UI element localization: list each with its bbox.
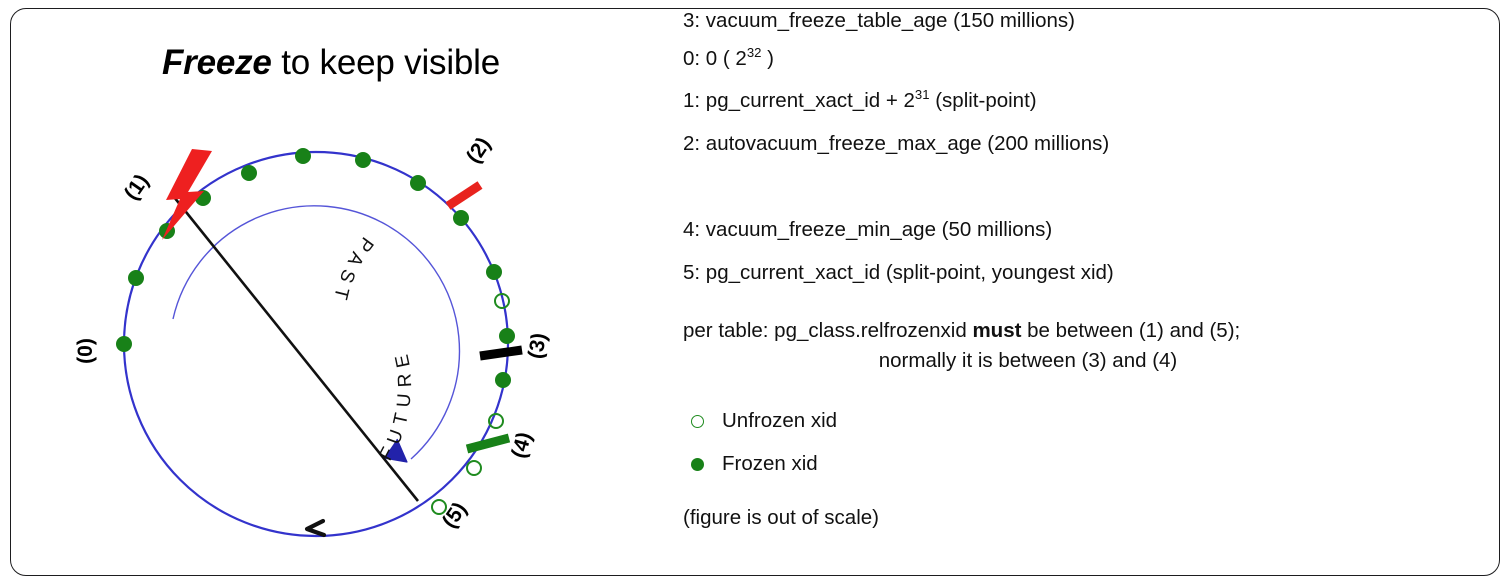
legend-line-0-text: ) [761,47,774,70]
ring-label-0: (0) [74,338,97,364]
per-table-note: per table: pg_class.relfrozenxid must be… [683,316,1413,376]
legend-line-4-text: 4: vacuum_freeze_min_age (50 millions) [683,218,1052,241]
ring-label-1-text: (1) [120,170,154,204]
legend-line-0-exponent: 32 [747,45,762,60]
figure-title-rest: to keep visible [272,43,500,82]
frozen-xid-dot [295,148,311,164]
legend-line-1-text: 1: pg_current_xact_id + 2 [683,89,915,112]
ring-label-2-text: (2) [462,133,495,167]
note-pre: per table: pg_class.relfrozenxid [683,319,972,342]
frozen-xid-dot [128,270,144,286]
frozen-xid-dot [410,175,426,191]
frozen-xid-dot [499,328,515,344]
tick-marker-2 [448,185,480,206]
figure-pane: Freeze to keep visible PAST FUTURE [11,9,651,575]
legend-line-1-exponent: 31 [915,87,930,102]
ring-label-4-text: (4) [507,430,536,461]
legend-key-unfrozen-label: Unfrozen xid [722,409,837,433]
past-label: PAST [328,233,378,308]
frozen-xid-dot [355,152,371,168]
note-bold: must [972,319,1021,342]
tick-marker-3 [480,350,522,356]
figure-title: Freeze to keep visible [11,43,651,83]
inner-sweep-arc [173,206,459,459]
ring-label-4: (4) [507,430,536,461]
ring-label-5-text: (5) [438,498,472,532]
scale-footnote: (figure is out of scale) [683,506,879,530]
legend-line-0-text: 0: 0 ( 2 [683,47,747,70]
frozen-xid-dot [116,336,132,352]
ring-label-3-text: (3) [524,331,551,360]
frozen-xid-dot [495,372,511,388]
figure-title-emphasis: Freeze [162,43,272,82]
ring-label-0-text: (0) [74,338,97,364]
ring-label-1: (1) [120,170,154,204]
frozen-xid-icon [691,458,704,471]
legend-line-5-text: 5: pg_current_xact_id (split-point, youn… [683,261,1114,284]
legend-key-frozen-label: Frozen xid [722,452,818,476]
past-label-text: PAST [328,233,378,308]
future-label: FUTURE [376,346,417,464]
legend-line-1-text: (split-point) [930,89,1037,112]
legend-line-2: 2: autovacuum_freeze_max_age (200 millio… [683,132,1109,156]
frozen-xid-dot [486,264,502,280]
legend-line-3: 3: vacuum_freeze_table_age (150 millions… [683,9,1075,33]
legend-line-3-text: 3: vacuum_freeze_table_age (150 millions… [683,9,1075,32]
ring-label-5: (5) [438,498,472,532]
legend-line-1: 1: pg_current_xact_id + 231 (split-point… [683,89,1037,113]
per-table-note-line2: normally it is between (3) and (4) [683,346,1413,376]
future-label-text: FUTURE [376,346,417,464]
xid-wraparound-diagram: PAST FUTURE [66,129,566,559]
unfrozen-xid-icon [691,415,704,428]
unfrozen-xid-dot [467,461,481,475]
ring-label-2: (2) [462,133,495,167]
circle-direction-arrow-icon [307,521,324,535]
frozen-xid-dot [241,165,257,181]
legend-key-frozen: Frozen xid [691,452,818,476]
legend-key-unfrozen: Unfrozen xid [691,409,837,433]
legend-line-5: 5: pg_current_xact_id (split-point, youn… [683,261,1114,285]
figure-card: Freeze to keep visible PAST FUTURE [10,8,1500,576]
legend-text-pane: 0: 0 ( 232 ) 1: pg_current_xact_id + 231… [683,9,1483,575]
per-table-note-line1: per table: pg_class.relfrozenxid must be… [683,316,1413,346]
ring-label-3: (3) [524,331,551,360]
legend-line-2-text: 2: autovacuum_freeze_max_age (200 millio… [683,132,1109,155]
tick-marker-4 [467,438,509,449]
legend-line-0: 0: 0 ( 232 ) [683,47,774,71]
legend-line-4: 4: vacuum_freeze_min_age (50 millions) [683,218,1052,242]
note-post: be between (1) and (5); [1021,319,1240,342]
frozen-xid-dot [453,210,469,226]
